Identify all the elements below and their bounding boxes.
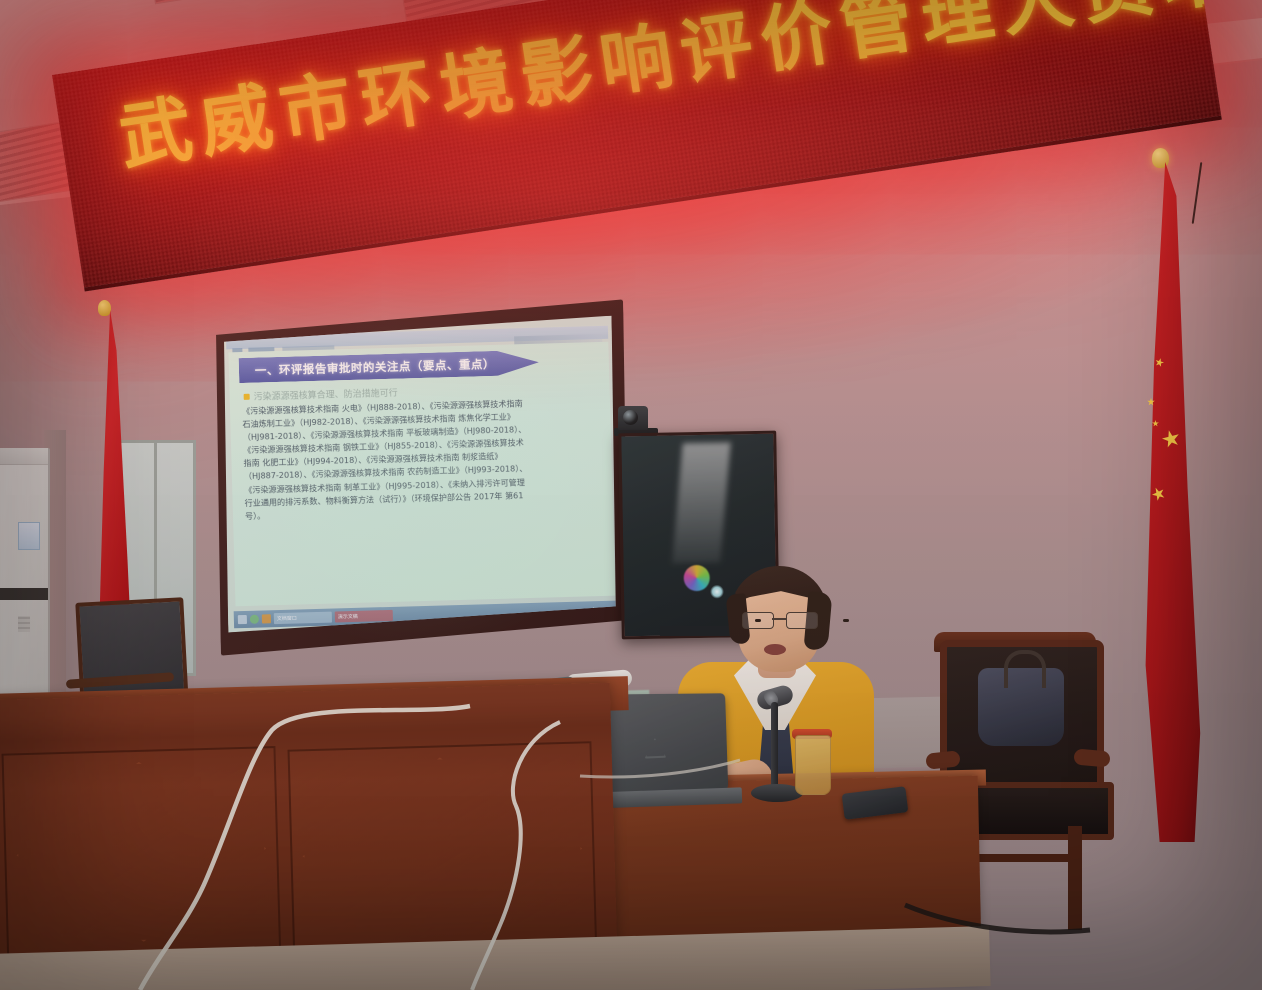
- handbag-handle: [1004, 650, 1046, 688]
- slide: 一、环评报告审批时的关注点（要点、重点） 污染源源强核算合理、防治措施可行 《污…: [228, 342, 615, 607]
- taskbar-task-active[interactable]: 演示文稿: [335, 610, 393, 623]
- tv-reflection: [672, 442, 731, 563]
- speaker-eye: [843, 619, 849, 622]
- speaker-glasses-icon: [742, 612, 818, 627]
- armchair-leg: [1068, 826, 1082, 930]
- taskbar-task[interactable]: 文档窗口: [274, 612, 332, 625]
- start-button-icon[interactable]: [238, 615, 247, 624]
- air-conditioner-label: [18, 522, 40, 550]
- podium-panel-diamond: [300, 754, 585, 952]
- camera-lens-icon: [623, 410, 638, 425]
- air-conditioner-top: [0, 448, 48, 465]
- folder-icon[interactable]: [262, 614, 271, 623]
- laptop-logo-icon: [644, 738, 666, 759]
- glasses-lens: [742, 612, 774, 629]
- speaker-mouth: [764, 644, 786, 655]
- air-conditioner-band: [0, 588, 48, 600]
- speaker-eye: [755, 619, 761, 622]
- microphone-neck: [771, 702, 778, 788]
- slide-title: 一、环评报告审批时的关注点（要点、重点）: [255, 355, 495, 378]
- flag-finial-icon: [98, 300, 111, 316]
- slide-title-banner: 一、环评报告审批时的关注点（要点、重点）: [239, 350, 540, 383]
- slide-body: 《污染源源强核算技术指南 火电》（HJ888-2018）、《污染源源强核算技术指…: [242, 395, 603, 523]
- podium-panel: [288, 741, 598, 963]
- bullet-dot-icon: [244, 393, 250, 399]
- podium-panel-diamond: [14, 758, 269, 945]
- glasses-bridge: [772, 618, 786, 620]
- podium-panel: [2, 746, 282, 958]
- glasses-lens: [786, 612, 818, 629]
- flag-finial-icon: [1152, 148, 1169, 168]
- training-room-photo: 武威市环境影响评价管理人员培训班 一、环评报告审批时的关注点（要点、重点）: [0, 0, 1262, 990]
- tea-jar: [795, 735, 831, 795]
- armchair-armrest-right: [1073, 748, 1110, 767]
- browser-icon[interactable]: [250, 615, 259, 624]
- air-conditioner: [0, 448, 50, 706]
- projection-screen-surface: 一、环评报告审批时的关注点（要点、重点） 污染源源强核算合理、防治措施可行 《污…: [220, 316, 620, 633]
- slide-bullet-text: 污染源源强核算合理、防治措施可行: [253, 386, 397, 403]
- conference-camera: [618, 406, 648, 430]
- air-conditioner-vent: [18, 616, 30, 632]
- projection-screen: 一、环评报告审批时的关注点（要点、重点） 污染源源强核算合理、防治措施可行 《污…: [211, 299, 632, 655]
